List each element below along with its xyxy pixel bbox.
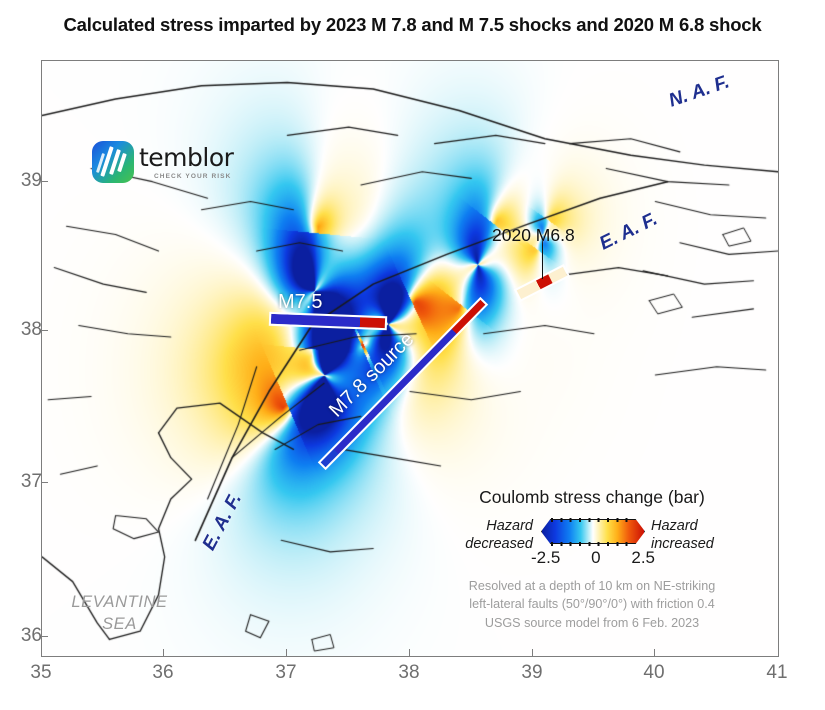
colorbar-ticks-top [551, 518, 635, 522]
colorbar-tick-max: 2.5 [631, 548, 655, 568]
colorbar-tick-min: -2.5 [531, 548, 560, 568]
y-tick-mark [41, 482, 48, 483]
x-tick-36: 36 [138, 662, 188, 684]
x-tick-mark [286, 649, 287, 656]
hazard-increased-line2: increased [651, 535, 737, 553]
hazard-increased-line1: Hazard [651, 517, 737, 535]
x-tick-mark [409, 649, 410, 656]
colorbar [541, 515, 645, 549]
legend-title: Coulomb stress change (bar) [447, 487, 737, 508]
x-tick-35: 35 [16, 662, 66, 684]
temblor-logo: temblor CHECK YOUR RISK [92, 139, 252, 191]
hazard-decreased-line1: Hazard [447, 517, 533, 535]
x-tick-mark [654, 649, 655, 656]
sea-label-line2: SEA [52, 613, 187, 635]
sea-label: LEVANTINE SEA [52, 591, 187, 636]
x-tick-39: 39 [507, 662, 557, 684]
y-tick-mark [41, 181, 48, 182]
legend-note-line3: USGS source model from 6 Feb. 2023 [447, 614, 737, 632]
hazard-decreased-line2: decreased [447, 535, 533, 553]
x-tick-41: 41 [752, 662, 802, 684]
x-tick-40: 40 [629, 662, 679, 684]
legend: Coulomb stress change (bar) Hazard decre… [447, 487, 737, 632]
legend-note: Resolved at a depth of 10 km on NE-strik… [447, 577, 737, 632]
y-tick-37: 37 [2, 471, 42, 493]
legend-note-line1: Resolved at a depth of 10 km on NE-strik… [447, 577, 737, 595]
hazard-increased-label: Hazard increased [651, 517, 737, 553]
legend-note-line2: left-lateral faults (50°/90°/0°) with fr… [447, 595, 737, 613]
y-tick-39: 39 [2, 170, 42, 192]
colorbar-tick-labels: -2.5 0 2.5 [531, 548, 655, 568]
x-tick-37: 37 [261, 662, 311, 684]
hazard-decreased-label: Hazard decreased [447, 517, 533, 553]
x-tick-mark [532, 649, 533, 656]
y-tick-mark [41, 330, 48, 331]
sea-label-line1: LEVANTINE [52, 591, 187, 613]
colorbar-ticks-bottom [551, 542, 635, 546]
temblor-logo-mark [92, 141, 134, 183]
temblor-tagline: CHECK YOUR RISK [154, 173, 231, 180]
x-tick-mark [163, 649, 164, 656]
x-tick-38: 38 [384, 662, 434, 684]
legend-colorbar-row: Hazard decreased Hazard increased -2.5 0… [447, 515, 737, 557]
colorbar-gradient [541, 519, 645, 544]
y-tick-mark [41, 636, 48, 637]
page-title: Calculated stress imparted by 2023 M 7.8… [0, 14, 825, 36]
y-tick-38: 38 [2, 319, 42, 341]
source-label-m68: 2020 M6.8 [492, 225, 575, 246]
source-label-m75: M7.5 [278, 291, 322, 314]
colorbar-tick-mid: 0 [591, 548, 600, 568]
y-tick-36: 36 [2, 625, 42, 647]
m68-leader-line [542, 241, 543, 279]
temblor-wordmark: temblor [139, 143, 233, 172]
